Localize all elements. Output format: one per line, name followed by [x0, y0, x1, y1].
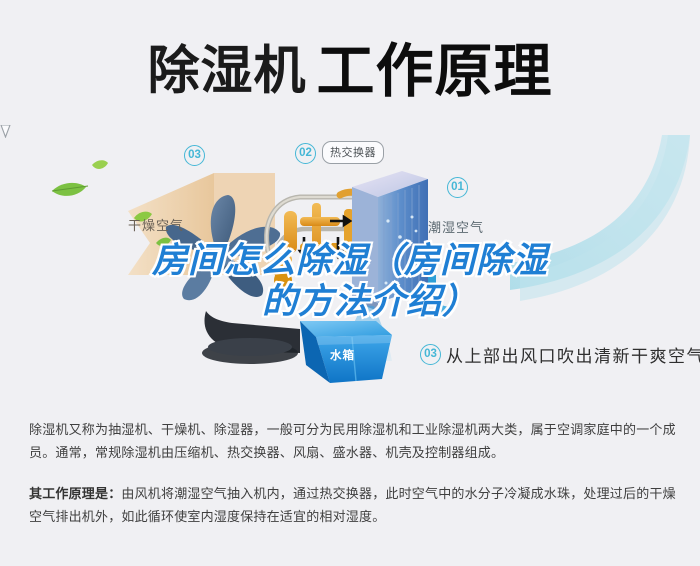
dehumidifier-diagram: 03 02 01 03 热交换器 干燥空气 潮湿空气 水箱 从上部出风口吹出清新…: [0, 125, 700, 400]
article-image: 除湿机工作原理: [0, 0, 700, 566]
label-moist-air: 潮湿空气: [428, 217, 484, 236]
page-title-part2: 工作原理: [317, 39, 553, 104]
step-badge-03-dry: 03: [184, 145, 205, 166]
page-title: 除湿机工作原理: [0, 24, 700, 108]
step-badge-02-heat-exchanger: 02: [295, 143, 316, 164]
paragraph-1: 除湿机又称为抽湿机、干燥机、除湿器，一般可分为民用除湿机和工业除湿机两大类，属于…: [29, 418, 677, 464]
label-dry-air: 干燥空气: [128, 215, 184, 234]
step-badge-01-moist: 01: [447, 177, 468, 198]
label-outlet-caption: 从上部出风口吹出清新干爽空气: [446, 342, 700, 367]
label-water-tank: 水箱: [330, 347, 355, 363]
unit-base: [202, 311, 300, 364]
step-badge-03-outlet: 03: [420, 344, 441, 365]
paragraph-2-lead: 其工作原理是：: [29, 486, 121, 501]
article-body: 除湿机又称为抽湿机、干燥机、除湿器，一般可分为民用除湿机和工业除湿机两大类，属于…: [29, 418, 677, 546]
outflow-arrow-icon: [418, 300, 454, 326]
paragraph-2: 其工作原理是：由风机将潮湿空气抽入机内，通过热交换器，此时空气中的水分子冷凝成水…: [29, 482, 677, 528]
page-title-part1: 除湿机: [147, 43, 306, 101]
paragraph-2-rest: 由风机将潮湿空气抽入机内，通过热交换器，此时空气中的水分子冷凝成水珠，处理过后的…: [29, 486, 676, 524]
callout-tail-icon: [0, 125, 11, 138]
heat-exchanger-callout: 热交换器: [322, 141, 384, 164]
